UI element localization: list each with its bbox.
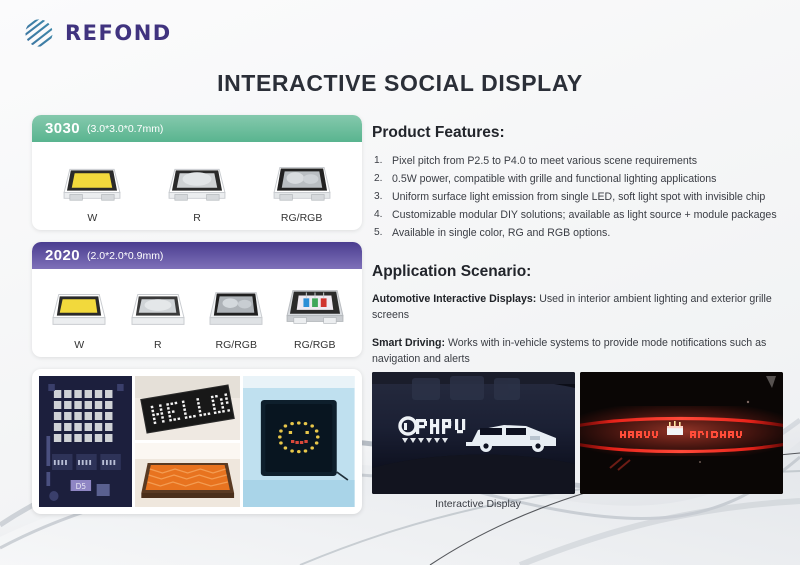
slide-page: REFOND INTERACTIVE SOCIAL DISPLAY 3030 (… bbox=[0, 0, 800, 565]
car-rear-window-pickup-led-display-icon bbox=[372, 372, 575, 494]
spec-card-3030: 3030 (3.0*3.0*0.7mm) W bbox=[32, 115, 362, 230]
hello-led-panel-display-icon bbox=[135, 376, 240, 440]
led-package-rgb-icon bbox=[268, 154, 336, 206]
spec-card-3030-header: 3030 (3.0*3.0*0.7mm) bbox=[32, 115, 362, 142]
gallery-image-hello-panel[interactable] bbox=[135, 376, 240, 440]
feature-item: Customizable modular DIY solutions; avai… bbox=[372, 207, 782, 223]
photo-row bbox=[372, 372, 784, 494]
led-matrix-pcb-board-icon: D5 bbox=[39, 376, 132, 507]
photo-car-happy-birthday-strip[interactable] bbox=[580, 372, 783, 494]
product-features-list: Pixel pitch from P2.5 to P4.0 to meet va… bbox=[372, 153, 782, 241]
feature-item: Available in single color, RG and RGB op… bbox=[372, 225, 782, 241]
led-item[interactable]: RG/RGB bbox=[197, 281, 275, 351]
led-item[interactable]: W bbox=[53, 154, 131, 224]
spec-dimensions-label: (3.0*3.0*0.7mm) bbox=[87, 123, 163, 135]
car-taillight-happy-birthday-led-strip-icon bbox=[580, 372, 783, 494]
orange-flexible-led-module-icon bbox=[135, 443, 240, 507]
led-package-white-icon bbox=[58, 154, 126, 206]
led-label: RG/RGB bbox=[294, 339, 335, 351]
led-row-3030: W R bbox=[32, 142, 362, 230]
application-scenario-heading: Application Scenario: bbox=[372, 263, 782, 281]
led-row-2020: W R bbox=[32, 269, 362, 357]
led-item[interactable]: R bbox=[158, 154, 236, 224]
led-label: R bbox=[154, 339, 162, 351]
led-package-rgb-chips-icon bbox=[281, 281, 349, 333]
led-item[interactable]: RG/RGB bbox=[263, 154, 341, 224]
led-item[interactable]: R bbox=[119, 281, 197, 351]
gallery-image-flexible-led-module[interactable] bbox=[135, 443, 240, 507]
gallery-image-smiley-cube[interactable] bbox=[243, 376, 355, 507]
feature-item: 0.5W power, compatible with grille and f… bbox=[372, 171, 782, 187]
spec-dimensions-label: (2.0*2.0*0.9mm) bbox=[87, 250, 163, 262]
led-package-rgb-icon bbox=[202, 281, 270, 333]
brand-name: REFOND bbox=[65, 21, 172, 45]
feature-item: Uniform surface light emission from sing… bbox=[372, 189, 782, 205]
led-label: RG/RGB bbox=[281, 212, 322, 224]
led-package-red-icon bbox=[124, 281, 192, 333]
photo-caption: Interactive Display bbox=[372, 498, 584, 510]
application-scenario-block: Application Scenario: Automotive Interac… bbox=[372, 263, 782, 367]
led-label: W bbox=[74, 339, 84, 351]
application-item-label: Smart Driving: bbox=[372, 337, 445, 349]
left-column: 3030 (3.0*3.0*0.7mm) W bbox=[32, 115, 362, 514]
feature-item: Pixel pitch from P2.5 to P4.0 to meet va… bbox=[372, 153, 782, 169]
led-label: W bbox=[87, 212, 97, 224]
spec-size-label: 3030 bbox=[45, 120, 80, 137]
led-item[interactable]: RG/RGB bbox=[276, 281, 354, 351]
spec-card-2020: 2020 (2.0*2.0*0.9mm) W bbox=[32, 242, 362, 357]
page-header: REFOND bbox=[0, 0, 800, 62]
page-title: INTERACTIVE SOCIAL DISPLAY bbox=[0, 70, 800, 97]
spec-size-label: 2020 bbox=[45, 247, 80, 264]
led-package-red-icon bbox=[163, 154, 231, 206]
gallery-image-led-matrix-pcb[interactable]: D5 bbox=[39, 376, 132, 507]
application-item: Smart Driving: Works with in-vehicle sys… bbox=[372, 336, 782, 367]
product-features-heading: Product Features: bbox=[372, 124, 782, 142]
right-column: Product Features: Pixel pitch from P2.5 … bbox=[372, 124, 782, 380]
svg-text:D5: D5 bbox=[76, 482, 87, 491]
brand-logo[interactable]: REFOND bbox=[22, 16, 172, 50]
application-item: Automotive Interactive Displays: Used in… bbox=[372, 292, 782, 323]
photo-car-pickup-display[interactable] bbox=[372, 372, 575, 494]
led-item[interactable]: W bbox=[40, 281, 118, 351]
led-package-white-icon bbox=[45, 281, 113, 333]
led-label: RG/RGB bbox=[216, 339, 257, 351]
gallery-mid-column bbox=[135, 376, 240, 507]
spec-card-2020-header: 2020 (2.0*2.0*0.9mm) bbox=[32, 242, 362, 269]
application-item-label: Automotive Interactive Displays: bbox=[372, 293, 536, 305]
smiley-face-led-cube-display-icon bbox=[243, 376, 355, 507]
product-gallery: D5 bbox=[32, 369, 362, 514]
led-label: R bbox=[193, 212, 201, 224]
refond-globe-logo-icon bbox=[22, 16, 56, 50]
